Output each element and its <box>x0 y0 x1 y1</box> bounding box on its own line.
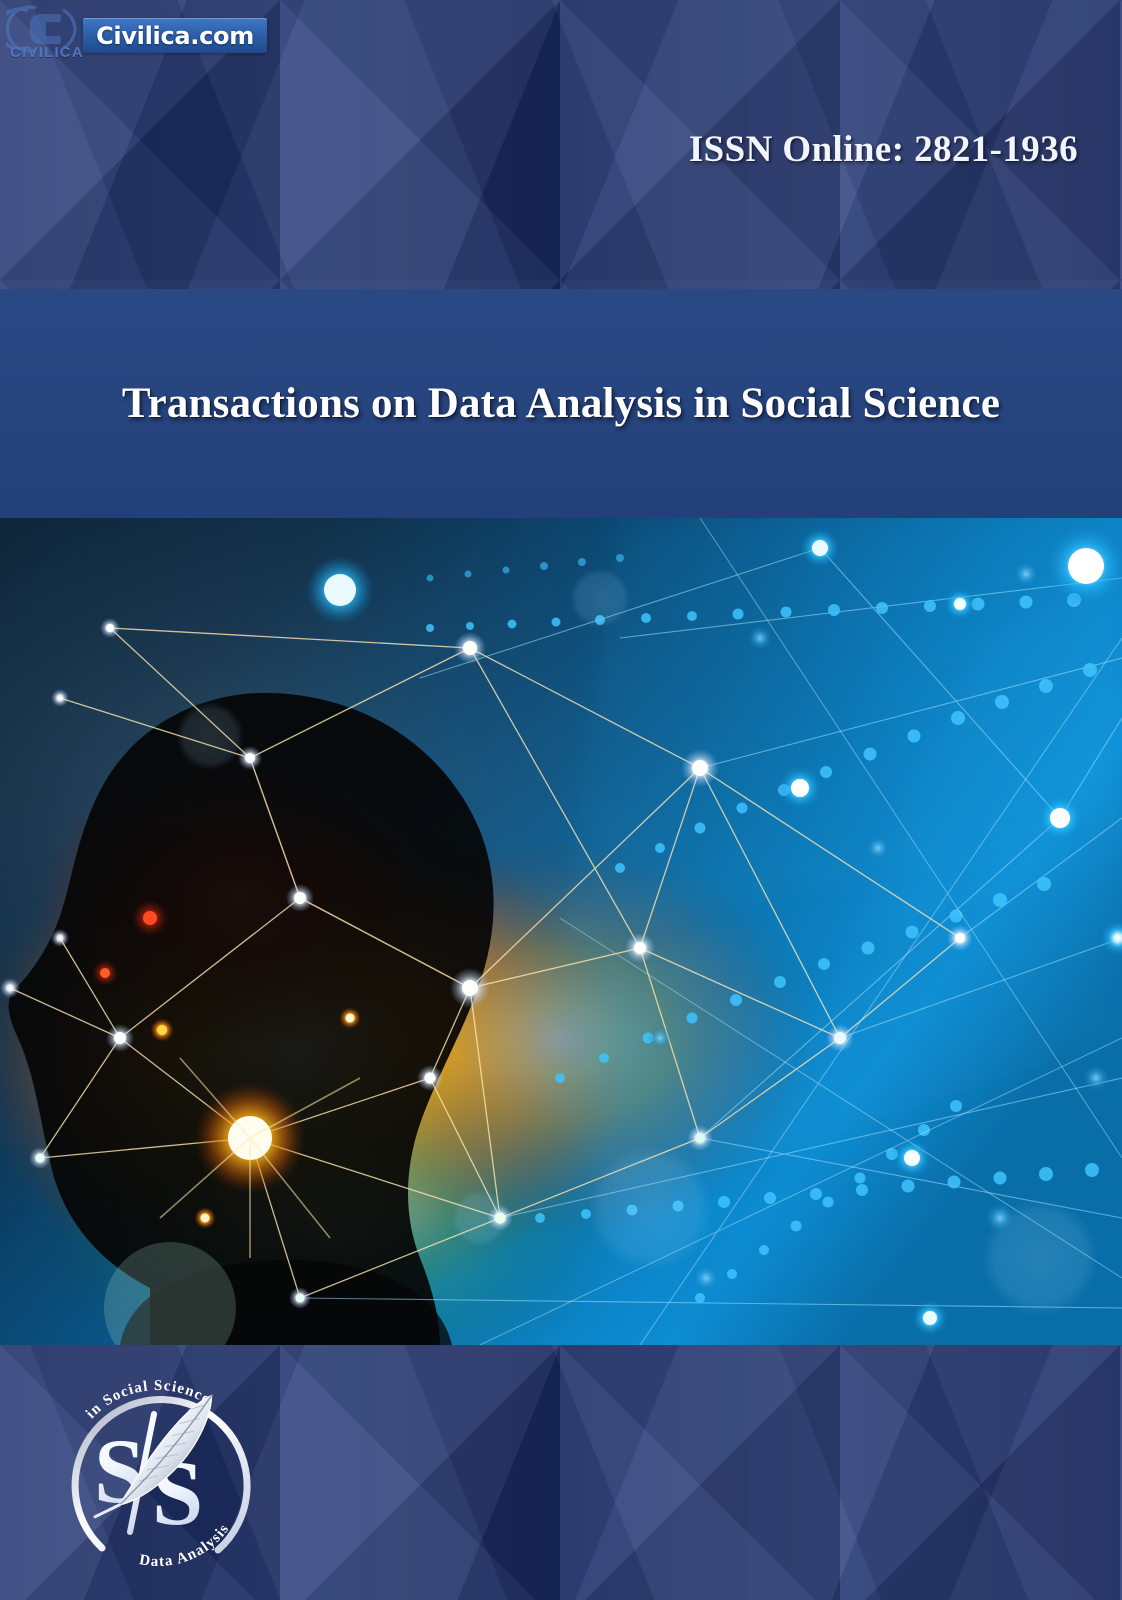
civilica-badge-label: Civilica.com <box>96 22 254 50</box>
journal-title: Transactions on Data Analysis in Social … <box>122 379 1000 428</box>
civilica-site-badge[interactable]: Civilica.com <box>83 18 267 53</box>
journal-logo: in Social Science Data Analysis S S <box>42 1352 274 1584</box>
civilica-wordmark: CIVILICA <box>4 44 90 61</box>
journal-cover: CIVILICA Civilica.com ISSN Online: 2821-… <box>0 0 1122 1600</box>
cover-artwork: Glowing network graph over a human head … <box>0 518 1122 1345</box>
issn-line: ISSN Online: 2821-1936 <box>689 128 1078 171</box>
title-band: Transactions on Data Analysis in Social … <box>0 289 1122 518</box>
